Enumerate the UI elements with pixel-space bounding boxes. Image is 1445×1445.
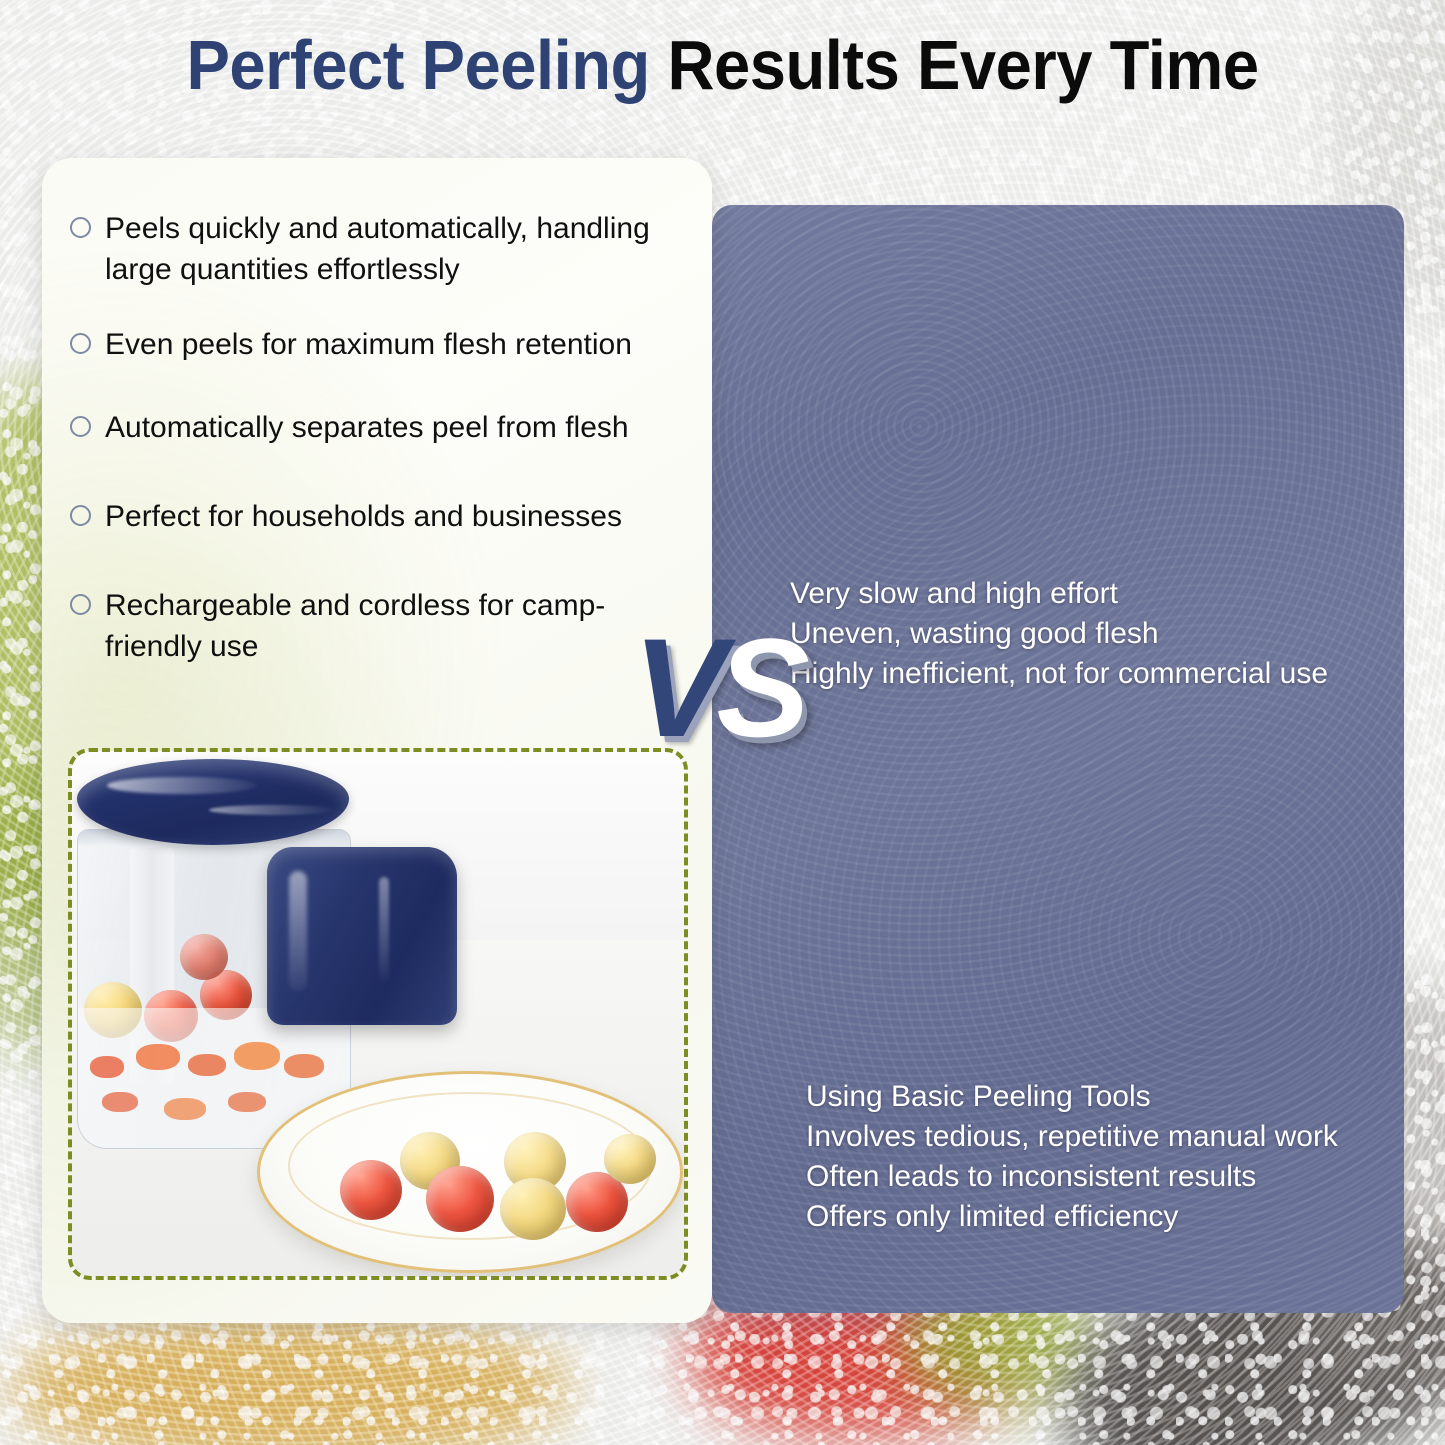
hollow-circle-icon bbox=[70, 594, 91, 615]
peeled-fruit-red bbox=[426, 1166, 494, 1232]
benefits-card: Peels quickly and automatically, handlin… bbox=[42, 158, 712, 1323]
versus-letter-v: V bbox=[633, 609, 716, 766]
drawback-line: Using Basic Peeling Tools bbox=[806, 1077, 1338, 1117]
list-item: Rechargeable and cordless for camp-frien… bbox=[70, 585, 690, 667]
manual-peeling-drawbacks-bottom: Using Basic Peeling Tools Involves tedio… bbox=[806, 1077, 1338, 1237]
list-item: Perfect for households and businesses bbox=[70, 496, 690, 537]
serving-plate bbox=[257, 1071, 683, 1273]
motor-highlight bbox=[379, 877, 389, 985]
product-photo-block bbox=[68, 748, 688, 1280]
hollow-circle-icon bbox=[70, 505, 91, 526]
versus-badge: VS bbox=[633, 618, 800, 758]
versus-letter-s: S bbox=[716, 609, 799, 766]
fruit-red bbox=[180, 934, 228, 980]
motor-highlight bbox=[289, 871, 307, 991]
drawback-line: Uneven, wasting good flesh bbox=[790, 614, 1328, 654]
peel-bit bbox=[102, 1092, 138, 1112]
title-part-highlight: Perfect Peeling bbox=[186, 26, 649, 104]
drawback-line: Highly inefficient, not for commercial u… bbox=[790, 654, 1328, 694]
drawback-line: Offers only limited efficiency bbox=[806, 1197, 1338, 1237]
list-item: Peels quickly and automatically, handlin… bbox=[70, 208, 690, 290]
peeled-fruit-red bbox=[340, 1160, 402, 1220]
benefit-text: Rechargeable and cordless for camp-frien… bbox=[105, 585, 690, 667]
hollow-circle-icon bbox=[70, 416, 91, 437]
peel-bit bbox=[228, 1092, 266, 1112]
benefit-text: Automatically separates peel from flesh bbox=[105, 407, 629, 448]
benefits-list: Peels quickly and automatically, handlin… bbox=[70, 208, 690, 701]
list-item: Even peels for maximum flesh retention bbox=[70, 324, 690, 365]
peel-bit bbox=[234, 1042, 280, 1070]
benefit-text: Perfect for households and businesses bbox=[105, 496, 622, 537]
hollow-circle-icon bbox=[70, 333, 91, 354]
list-item: Automatically separates peel from flesh bbox=[70, 407, 690, 448]
peeled-fruit-yellow bbox=[604, 1134, 656, 1184]
peel-bit bbox=[90, 1056, 124, 1078]
page-title: Perfect Peeling Results Every Time bbox=[51, 26, 1395, 104]
drawback-line: Very slow and high effort bbox=[790, 574, 1328, 614]
manual-peeling-drawbacks-top: Very slow and high effort Uneven, wastin… bbox=[790, 574, 1328, 694]
peel-bit bbox=[164, 1098, 206, 1120]
peel-bit bbox=[136, 1044, 180, 1070]
benefit-text: Peels quickly and automatically, handlin… bbox=[105, 208, 683, 290]
benefit-text: Even peels for maximum flesh retention bbox=[105, 324, 632, 365]
product-photo bbox=[71, 751, 685, 1277]
drawback-line: Often leads to inconsistent results bbox=[806, 1157, 1338, 1197]
infographic-root: Perfect Peeling Results Every Time Peels… bbox=[0, 0, 1445, 1445]
drawback-line: Involves tedious, repetitive manual work bbox=[806, 1117, 1338, 1157]
peel-bit bbox=[284, 1054, 324, 1078]
lid-highlight bbox=[209, 805, 337, 815]
peeler-motor-housing bbox=[267, 847, 457, 1025]
peeled-fruit-yellow bbox=[500, 1178, 566, 1240]
title-part-rest: Results Every Time bbox=[650, 26, 1259, 104]
peel-bit bbox=[188, 1054, 226, 1076]
hollow-circle-icon bbox=[70, 217, 91, 238]
lid-highlight bbox=[107, 777, 257, 794]
